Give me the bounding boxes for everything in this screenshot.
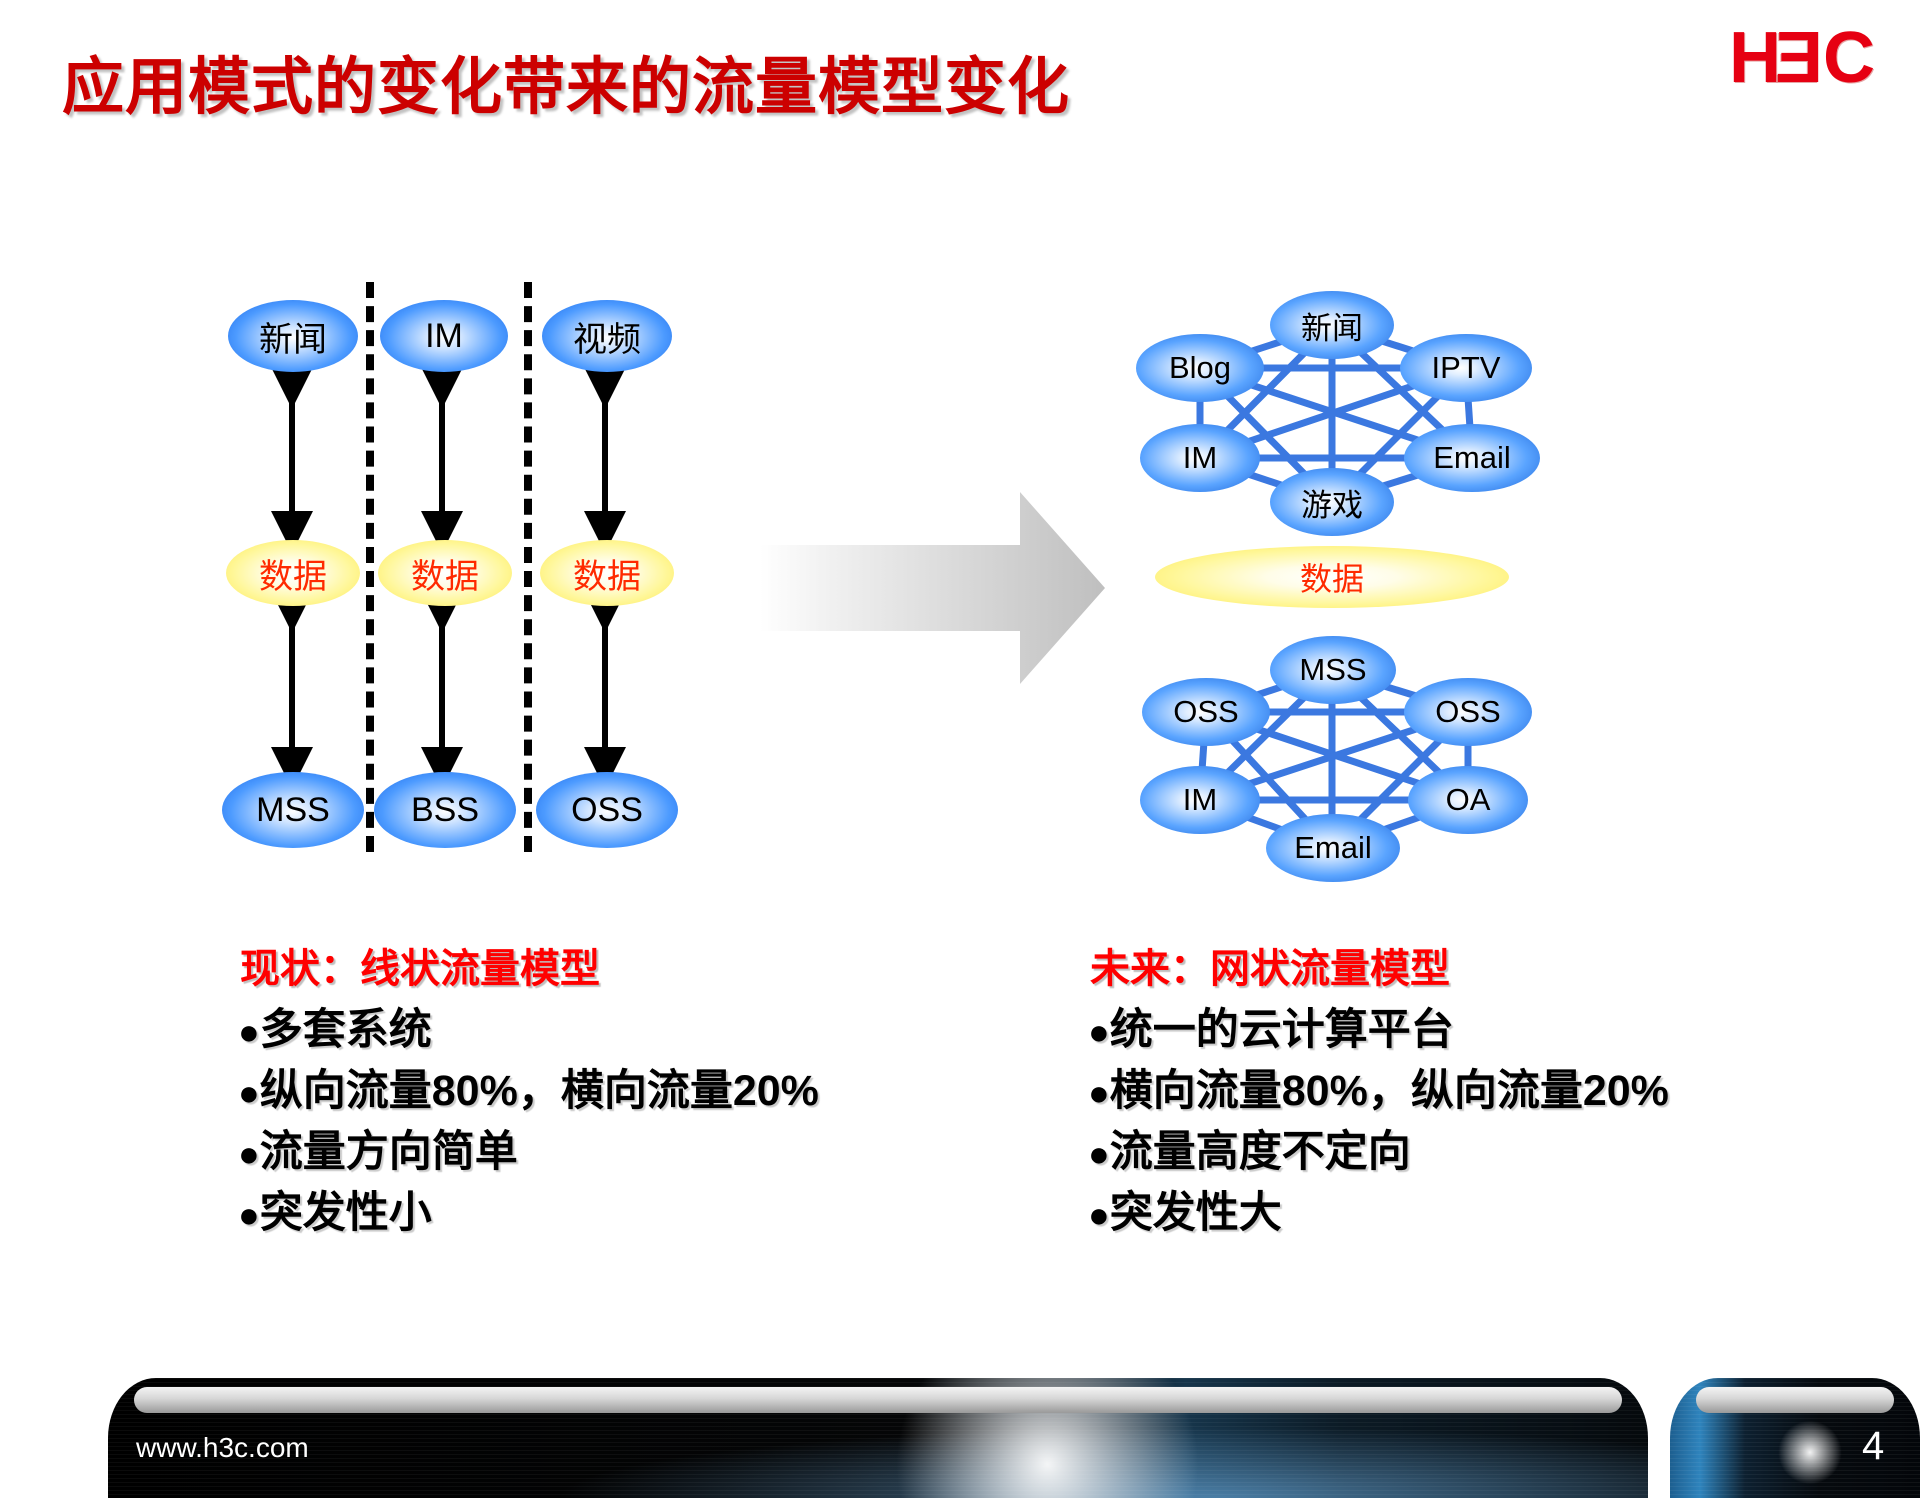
mesh-node-email-system: Email [1266, 814, 1400, 882]
page-title: 应用模式的变化带来的流量模型变化 [62, 36, 1070, 126]
list-item: ●突发性小 [238, 1183, 819, 1244]
page-number: 4 [1862, 1424, 1884, 1469]
node-data-left-1: 数据 [226, 540, 360, 606]
node-label: MSS [1299, 652, 1366, 688]
node-label: IPTV [1432, 350, 1501, 386]
node-label: IM [1183, 440, 1217, 476]
node-label: MSS [256, 791, 330, 830]
column-divider-2 [524, 282, 532, 852]
footer-bar [108, 1378, 1648, 1498]
list-item: ●突发性大 [1088, 1183, 1669, 1244]
node-news-left: 新闻 [228, 300, 358, 372]
node-oss-left: OSS [536, 772, 678, 848]
node-label: 游戏 [1301, 480, 1363, 525]
node-label: 数据 [1300, 554, 1364, 600]
right-column-bullets: ●统一的云计算平台 ●横向流量80%，纵向流量20% ●流量高度不定向 ●突发性… [1088, 1000, 1669, 1244]
footer-page-gloss-highlight [1696, 1387, 1894, 1413]
mesh-node-oss-right: OSS [1404, 678, 1532, 746]
left-column-heading: 现状：线状流量模型 [240, 936, 600, 994]
node-label: IM [1183, 782, 1217, 818]
node-label: Email [1294, 830, 1372, 866]
node-label: 数据 [411, 549, 479, 598]
node-label: 数据 [573, 549, 641, 598]
node-label: 视频 [573, 312, 641, 361]
mesh-node-game: 游戏 [1270, 468, 1394, 536]
node-label: OSS [571, 791, 643, 830]
list-item: ●统一的云计算平台 [1088, 1000, 1669, 1061]
node-label: 新闻 [1301, 303, 1363, 348]
list-item: ●流量高度不定向 [1088, 1122, 1669, 1183]
mesh-node-oa: OA [1408, 766, 1528, 834]
node-label: OSS [1435, 694, 1500, 730]
node-label: IM [425, 317, 463, 356]
mesh-node-news: 新闻 [1270, 291, 1394, 359]
node-bss-left: BSS [374, 772, 516, 848]
mesh-node-im-system: IM [1140, 766, 1260, 834]
bullet-dot-icon: ● [1088, 1194, 1110, 1235]
node-label: OSS [1173, 694, 1238, 730]
mesh-node-im: IM [1140, 424, 1260, 492]
list-item: ●流量方向简单 [238, 1122, 819, 1183]
node-label: BSS [411, 791, 479, 830]
list-item: ●纵向流量80%，横向流量20% [238, 1061, 819, 1122]
footer-gloss-highlight [134, 1387, 1622, 1413]
mesh-node-blog: Blog [1136, 334, 1264, 402]
bullet-dot-icon: ● [1088, 1133, 1110, 1174]
node-data-cloud: 数据 [1155, 546, 1509, 608]
node-label: Blog [1169, 350, 1231, 386]
bullet-dot-icon: ● [238, 1133, 260, 1174]
node-data-left-2: 数据 [378, 540, 512, 606]
bullet-dot-icon: ● [1088, 1011, 1110, 1052]
bullet-dot-icon: ● [238, 1194, 260, 1235]
list-item: ●多套系统 [238, 1000, 819, 1061]
transition-arrow-icon [760, 492, 1105, 684]
node-mss-left: MSS [222, 772, 364, 848]
node-im-left: IM [380, 300, 508, 372]
list-item: ●横向流量80%，纵向流量20% [1088, 1061, 1669, 1122]
mesh-node-email: Email [1404, 424, 1540, 492]
right-column-heading: 未来：网状流量模型 [1090, 936, 1450, 994]
node-data-left-3: 数据 [540, 540, 674, 606]
mesh-node-iptv: IPTV [1400, 334, 1532, 402]
column-divider-1 [366, 282, 374, 852]
bullet-dot-icon: ● [1088, 1072, 1110, 1113]
node-label: Email [1433, 440, 1511, 476]
node-label: 数据 [259, 549, 327, 598]
mesh-node-oss-left: OSS [1142, 678, 1270, 746]
mesh-node-mss: MSS [1270, 636, 1396, 704]
bullet-dot-icon: ● [238, 1072, 260, 1113]
footer-website-url[interactable]: www.h3c.com [136, 1432, 309, 1464]
node-label: 新闻 [259, 312, 327, 361]
h3c-logo: HEC [1729, 22, 1872, 94]
node-label: OA [1446, 782, 1491, 818]
left-column-bullets: ●多套系统 ●纵向流量80%，横向流量20% ●流量方向简单 ●突发性小 [238, 1000, 819, 1244]
node-video-left: 视频 [542, 300, 672, 372]
bullet-dot-icon: ● [238, 1011, 260, 1052]
